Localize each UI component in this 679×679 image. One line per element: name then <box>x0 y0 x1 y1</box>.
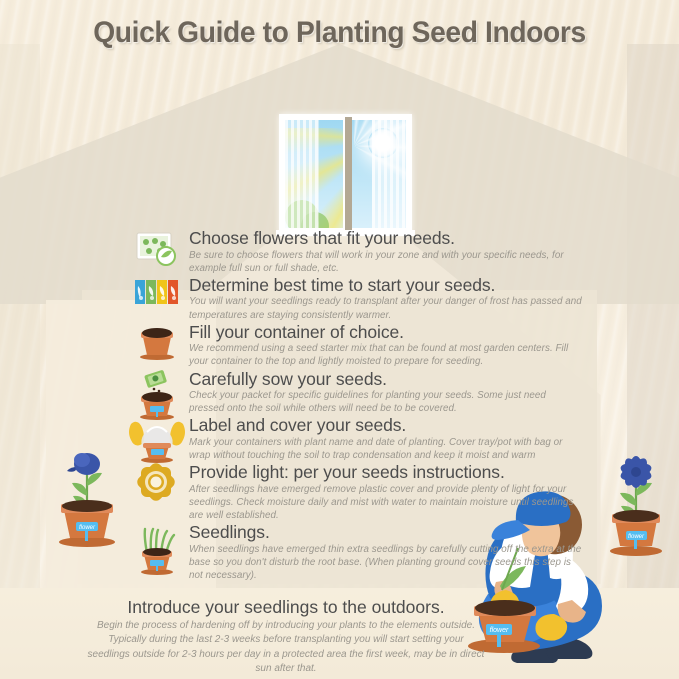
step-item: Carefully sow your seeds. Check your pac… <box>133 370 583 416</box>
sprouting-seedlings-pot-icon <box>133 523 183 575</box>
seed-packet-pouring-icon <box>133 370 183 420</box>
curtain-right <box>372 120 406 228</box>
step-title: Seedlings. <box>189 523 583 543</box>
step-item: Provide light: per your seeds instructio… <box>133 463 583 522</box>
gloves-covering-pot-icon <box>127 416 187 462</box>
step-item: Fill your container of choice. We recomm… <box>133 323 583 369</box>
step-title: Choose flowers that fit your needs. <box>189 229 583 249</box>
left-potted-flower: flower <box>44 418 130 548</box>
infographic-poster: Quick Guide to Planting Seed Indoors <box>0 0 679 679</box>
step-body: Mark your containers with plant name and… <box>189 436 583 462</box>
gardener-pot-tag-label: flower <box>490 627 509 634</box>
step-body: Check your packet for specific guideline… <box>189 389 583 415</box>
calendar-seasons-icon <box>133 276 183 322</box>
footer-section: Introduce your seedlings to the outdoors… <box>86 598 486 676</box>
curtain-left <box>285 120 319 228</box>
window-mullion <box>345 117 352 231</box>
step-body: You will want your seedlings ready to tr… <box>189 295 583 321</box>
step-item: Label and cover your seeds. Mark your co… <box>133 416 583 462</box>
step-title: Provide light: per your seeds instructio… <box>189 463 583 483</box>
step-body: We recommend using a seed starter mix th… <box>189 342 583 368</box>
step-body: After seedlings have emerged remove plas… <box>189 483 583 522</box>
step-title: Carefully sow your seeds. <box>189 370 583 390</box>
filled-pot-icon <box>133 323 183 369</box>
page-title: Quick Guide to Planting Seed Indoors <box>20 16 658 50</box>
window-illustration <box>279 114 412 234</box>
left-wall-shape <box>0 44 40 589</box>
window-pane-left <box>285 120 343 228</box>
seed-packet-selection-icon <box>133 229 183 275</box>
step-title: Determine best time to start your seeds. <box>189 276 583 296</box>
step-title: Fill your container of choice. <box>189 323 583 343</box>
step-body: When seedlings have emerged thin extra s… <box>189 543 583 582</box>
steps-list: Choose flowers that fit your needs. Be s… <box>133 229 583 583</box>
step-item: Choose flowers that fit your needs. Be s… <box>133 229 583 275</box>
sun-light-icon <box>133 463 183 509</box>
potted-flower-graphic: flower <box>44 418 130 548</box>
left-plant-tag-label: flower <box>79 525 96 531</box>
footer-body: Begin the process of hardening off by in… <box>86 619 486 676</box>
step-item: Determine best time to start your seeds.… <box>133 276 583 322</box>
step-title: Label and cover your seeds. <box>189 416 583 436</box>
footer-title: Introduce your seedlings to the outdoors… <box>86 598 486 617</box>
step-item: Seedlings. When seedlings have emerged t… <box>133 523 583 582</box>
step-body: Be sure to choose flowers that will work… <box>189 249 583 275</box>
plant-tag-stem <box>497 635 501 647</box>
window-pane-right <box>348 120 406 228</box>
